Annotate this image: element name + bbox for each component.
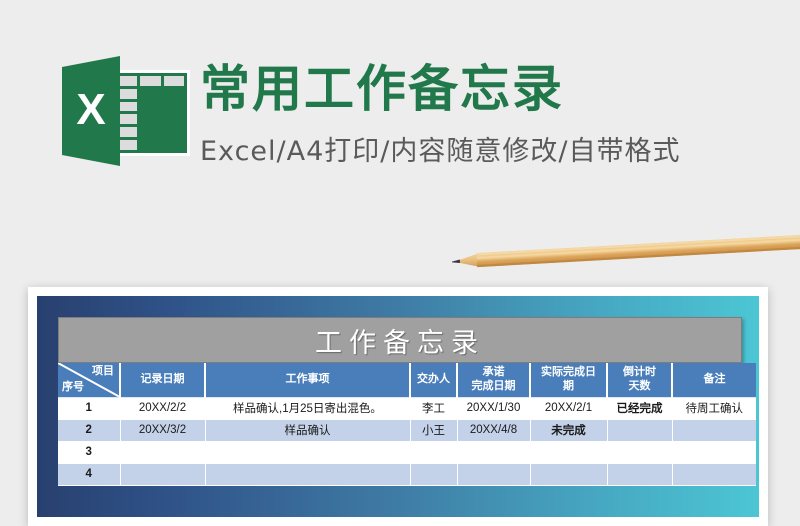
cell-owner[interactable] <box>410 463 457 485</box>
cell-record-date[interactable] <box>120 441 205 463</box>
cell-task[interactable]: 样品确认 <box>205 419 410 441</box>
cell-countdown[interactable] <box>607 419 672 441</box>
cell-record-date[interactable] <box>120 463 205 485</box>
cell-actual-date[interactable] <box>530 441 607 463</box>
cell-actual-date[interactable]: 20XX/2/1 <box>530 397 607 419</box>
cell-record-date[interactable]: 20XX/2/2 <box>120 397 205 419</box>
header-project-label: 项目 <box>92 365 114 379</box>
cell-no[interactable]: 2 <box>58 419 120 441</box>
cell-countdown[interactable] <box>607 463 672 485</box>
header-actual-line2: 期 <box>563 380 574 392</box>
cell-owner[interactable]: 李工 <box>410 397 457 419</box>
cell-remark[interactable] <box>672 419 756 441</box>
cell-countdown[interactable] <box>607 441 672 463</box>
cell-record-date[interactable]: 20XX/3/2 <box>120 419 205 441</box>
header-remark[interactable]: 备注 <box>672 363 756 397</box>
memo-table: 项目 序号 记录日期 工作事项 交办人 承诺 完成日期 实际完成日 期 <box>58 363 756 486</box>
cell-no[interactable]: 4 <box>58 463 120 485</box>
table-row[interactable]: 4 <box>58 463 756 485</box>
table-header-row: 项目 序号 记录日期 工作事项 交办人 承诺 完成日期 实际完成日 期 <box>58 363 756 397</box>
logo-sheet-grid <box>117 73 187 153</box>
header-actual-line1: 实际完成日 <box>541 366 596 378</box>
cell-remark[interactable]: 待周工确认 <box>672 397 756 419</box>
sheet-frame: 工作备忘录 项目 序号 记录日期 工作事项 <box>37 296 759 517</box>
header-countdown-line1: 倒计时 <box>623 366 656 378</box>
cell-countdown[interactable]: 已经完成 <box>607 397 672 419</box>
spreadsheet-card: 工作备忘录 项目 序号 记录日期 工作事项 <box>28 287 768 526</box>
table-row[interactable]: 2 20XX/3/2 样品确认 小王 20XX/4/8 未完成 <box>58 419 756 441</box>
header-task[interactable]: 工作事项 <box>205 363 410 397</box>
header-index-label: 序号 <box>62 381 84 395</box>
header-corner-index-project[interactable]: 项目 序号 <box>58 363 120 397</box>
cell-promise-date[interactable] <box>457 441 530 463</box>
cell-owner[interactable]: 小王 <box>410 419 457 441</box>
cell-no[interactable]: 1 <box>58 397 120 419</box>
table-row[interactable]: 3 <box>58 441 756 463</box>
cell-promise-date[interactable]: 20XX/4/8 <box>457 419 530 441</box>
cell-actual-date[interactable] <box>530 463 607 485</box>
sheet-title: 工作备忘录 <box>58 317 742 363</box>
cell-remark[interactable] <box>672 463 756 485</box>
header-promise-date[interactable]: 承诺 完成日期 <box>457 363 530 397</box>
logo-sheet <box>114 70 190 156</box>
logo-letter: X <box>62 56 120 166</box>
header-promise-line1: 承诺 <box>483 366 505 378</box>
cell-task[interactable] <box>205 441 410 463</box>
header-countdown-line2: 天数 <box>629 380 651 392</box>
cell-remark[interactable] <box>672 441 756 463</box>
header-countdown[interactable]: 倒计时 天数 <box>607 363 672 397</box>
page-subtitle: Excel/A4打印/内容随意修改/自带格式 <box>200 129 680 168</box>
cell-no[interactable]: 3 <box>58 441 120 463</box>
header-actual-date[interactable]: 实际完成日 期 <box>530 363 607 397</box>
table-row[interactable]: 1 20XX/2/2 样品确认,1月25日寄出混色。 李工 20XX/1/30 … <box>58 397 756 419</box>
cell-task[interactable] <box>205 463 410 485</box>
cell-promise-date[interactable] <box>457 463 530 485</box>
page-banner: X 常用工作备忘录 Excel/A4打印/内容随意修改/自带格式 <box>0 0 800 250</box>
cell-actual-date[interactable]: 未完成 <box>530 419 607 441</box>
cell-task[interactable]: 样品确认,1月25日寄出混色。 <box>205 397 410 419</box>
cell-promise-date[interactable]: 20XX/1/30 <box>457 397 530 419</box>
header-owner[interactable]: 交办人 <box>410 363 457 397</box>
page-title: 常用工作备忘录 <box>200 58 680 121</box>
cell-owner[interactable] <box>410 441 457 463</box>
title-block: 常用工作备忘录 Excel/A4打印/内容随意修改/自带格式 <box>200 58 680 168</box>
excel-logo-icon: X <box>62 56 190 166</box>
header-promise-line2: 完成日期 <box>472 380 516 392</box>
header-record-date[interactable]: 记录日期 <box>120 363 205 397</box>
